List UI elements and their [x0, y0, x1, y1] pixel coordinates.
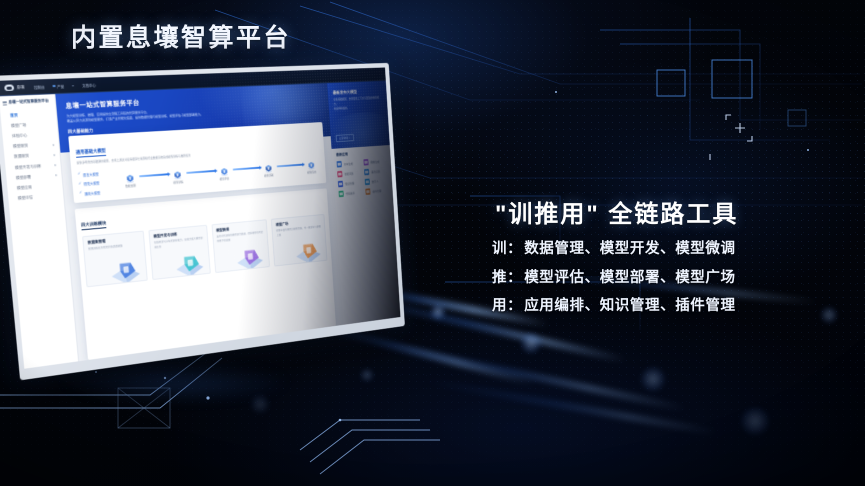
chevron-down-icon[interactable]	[72, 85, 74, 86]
apps-grid: 文本生成图像生成智能问答语音识别知识管理数字人代码助手插件管理	[337, 158, 389, 198]
model-type-label: 通用大模型	[84, 190, 100, 196]
app-icon	[338, 181, 343, 188]
training-module-desc: 在线开发与分布式训练能力，高效完成大模型训练任务	[154, 237, 204, 250]
training-modules-title: 四大训练模块	[81, 220, 107, 230]
sidebar-item-label: 模型评估	[18, 195, 33, 201]
training-module-desc: 提供丰富的预置大模型资源，可一键发布与部署上线	[276, 225, 321, 238]
feature-copy-key: 推：	[492, 271, 522, 286]
promo-cta-button[interactable]: 立即体验 >	[336, 134, 354, 143]
monitor-screen: 息壤 控制台 产品 文档中心	[0, 67, 400, 368]
topnav-item-docs[interactable]: 文档中心	[82, 82, 96, 88]
base-model-card-title: 通用基础大模型	[76, 148, 107, 158]
feature-copy-key: 用：	[492, 299, 522, 314]
app-label: 语音识别	[371, 169, 380, 173]
feature-copy-value: 应用编排、知识管理、插件管理	[524, 299, 735, 314]
apps-panel-title: 最新应用	[336, 150, 386, 158]
app-icon	[363, 159, 368, 166]
training-module-icon	[172, 248, 206, 279]
training-modules-grid: 数据集管理管理训练任务所需的各类数据集模型开发与训练在线开发与分布式训练能力，高…	[82, 214, 327, 287]
promo-card[interactable]: 最新发布大模型 全新基础模型，支持更长上下文与更强的推理能力， 欢迎体验使用。 …	[327, 81, 390, 149]
feature-copy-title: "训推用" 全链路工具	[492, 194, 844, 229]
flow-connector-2	[186, 170, 215, 174]
main-content: 息壤一站式智算服务平台 为大模型训练、推理、应用提供全流程工具链的智算服务平台，…	[55, 83, 343, 361]
feature-copy-line-1: 推：模型评估、模型部署、模型广场	[492, 271, 844, 286]
pipeline-step-label: 模型评估	[219, 177, 229, 181]
training-module-icon	[108, 255, 143, 287]
model-type-item-1[interactable]: ✓视觉大模型	[78, 179, 120, 187]
app-icon	[339, 191, 344, 198]
slide-canvas: 内置息壤智算平台 息壤 控制台 产品	[0, 0, 865, 486]
sidebar-title: 息壤一站式智算服务平台	[8, 98, 49, 105]
feature-copy-lines: 训：数据管理、模型开发、模型微调推：模型评估、模型部署、模型广场用：应用编排、知…	[492, 242, 844, 314]
feature-copy-block: "训推用" 全链路工具 训：数据管理、模型开发、模型微调推：模型评估、模型部署、…	[492, 194, 844, 328]
pipeline-step-icon	[124, 171, 136, 183]
page-title: 内置息壤智算平台	[71, 18, 291, 54]
training-modules-card: 四大训练模块 数据集管理管理训练任务所需的各类数据集模型开发与训练在线开发与分布…	[75, 188, 336, 360]
sidebar-item-label: 模型服务	[13, 144, 29, 150]
feature-copy-value: 模型评估、模型部署、模型广场	[524, 271, 735, 286]
app-label: 插件管理	[372, 189, 381, 193]
pipeline-step-label: 模型训练	[173, 180, 183, 185]
app-item-1[interactable]: 图像生成	[363, 158, 387, 166]
check-icon: ✓	[78, 182, 81, 186]
feature-copy-key: 训：	[492, 242, 522, 257]
brand-name: 息壤	[16, 85, 24, 90]
pipeline-step-icon	[306, 158, 316, 169]
apps-panel: 最新应用 文本生成图像生成智能问答语音识别知识管理数字人代码助手插件管理	[332, 145, 401, 325]
app-item-3[interactable]: 语音识别	[364, 167, 388, 175]
app-item-6[interactable]: 代码助手	[339, 189, 363, 197]
pipeline-step-1[interactable]: 模型训练	[169, 167, 186, 184]
topnav-item-products[interactable]: 产品	[53, 83, 65, 88]
app-item-4[interactable]: 知识管理	[338, 179, 362, 187]
grid-icon	[53, 85, 56, 88]
model-type-checklist: ✓语言大模型✓视觉大模型✓通用大模型	[77, 168, 121, 197]
app-label: 智能问答	[344, 171, 353, 175]
app-label: 知识管理	[345, 181, 354, 185]
app-label: 数字人	[372, 179, 379, 183]
app-icon	[364, 169, 369, 176]
training-module-card-0[interactable]: 数据集管理管理训练任务所需的各类数据集	[82, 230, 147, 287]
sidebar-item-label: 模型部署	[16, 175, 31, 181]
pipeline-step-label: 数据处理	[125, 184, 136, 189]
model-type-item-0[interactable]: ✓语言大模型	[78, 169, 120, 177]
sidebar-item-label: 体验中心	[12, 133, 28, 139]
flow-connector-3	[232, 167, 260, 170]
topnav-item-console[interactable]: 控制台	[34, 84, 45, 90]
monitor-mockup: 息壤 控制台 产品 文档中心	[6, 80, 436, 380]
training-module-card-3[interactable]: 模型广场提供丰富的预置大模型资源，可一键发布与部署上线	[271, 214, 327, 267]
app-icon	[365, 179, 370, 186]
app-label: 代码助手	[346, 191, 355, 195]
promo-title: 最新发布大模型	[333, 88, 382, 96]
sidebar-item-label: 数据服务	[14, 154, 30, 160]
training-module-card-2[interactable]: 模型微调支持对已训练的模型进行微调，提升模型在特定场景下的效果	[211, 219, 270, 273]
chevron-right-icon	[53, 144, 55, 146]
training-module-icon	[234, 242, 266, 272]
pipeline-step-icon	[172, 168, 183, 179]
cloud-icon	[4, 84, 14, 91]
topnav-item-products-label: 产品	[57, 83, 64, 88]
app-icon	[337, 171, 342, 178]
model-type-label: 视觉大模型	[83, 180, 99, 186]
training-module-card-1[interactable]: 模型开发与训练在线开发与分布式训练能力，高效完成大模型训练任务	[148, 224, 210, 279]
app-item-2[interactable]: 智能问答	[337, 169, 361, 177]
app-item-5[interactable]: 数字人	[365, 177, 388, 185]
pipeline-step-4[interactable]: 模型应用	[304, 158, 319, 175]
app-item-0[interactable]: 文本生成	[337, 160, 361, 168]
app-label: 文本生成	[344, 161, 353, 165]
pipeline-step-label: 模型应用	[307, 170, 316, 174]
pipeline-step-icon	[263, 161, 273, 172]
brand-logo[interactable]: 息壤	[4, 84, 25, 91]
training-module-icon	[293, 236, 323, 266]
sidebar-item-label: 模型应用	[17, 185, 32, 191]
check-icon: ✓	[79, 192, 82, 196]
model-type-label: 语言大模型	[83, 171, 99, 177]
topbar-nav: 控制台 产品 文档中心	[34, 82, 96, 89]
menu-icon[interactable]	[2, 101, 6, 105]
promo-desc-2: 欢迎体验使用。	[334, 105, 383, 112]
model-type-item-2[interactable]: ✓通用大模型	[79, 188, 121, 196]
pipeline-step-icon	[218, 164, 229, 175]
monitor-bezel: 息壤 控制台 产品 文档中心	[0, 63, 405, 380]
chevron-right-icon	[53, 154, 55, 156]
feature-copy-line-2: 用：应用编排、知识管理、插件管理	[492, 299, 844, 314]
app-icon	[365, 188, 370, 195]
pipeline-step-2[interactable]: 模型评估	[216, 164, 233, 181]
app-icon	[337, 161, 342, 168]
feature-copy-line-0: 训：数据管理、模型开发、模型微调	[492, 242, 844, 257]
chevron-right-icon	[54, 164, 56, 166]
sidebar-item-label: 模型开发与训练	[15, 164, 42, 171]
check-icon: ✓	[78, 173, 81, 177]
feature-copy-value: 数据管理、模型开发、模型微调	[524, 242, 735, 257]
training-module-desc: 支持对已训练的模型进行微调，提升模型在特定场景下的效果	[216, 231, 263, 244]
app-item-7[interactable]: 插件管理	[365, 187, 388, 195]
flow-connector-4	[276, 164, 303, 167]
chevron-right-icon	[55, 174, 57, 176]
pipeline-step-label: 模型部署	[264, 173, 274, 177]
app-label: 图像生成	[370, 160, 379, 164]
sidebar-menu: 首页模型广场体验中心模型服务数据服务模型开发与训练模型部署模型应用模型评估	[0, 106, 64, 205]
pipeline-flow: 数据处理模型训练模型评估模型部署模型应用	[119, 158, 320, 189]
flow-connector-1	[139, 173, 169, 177]
pipeline-step-3[interactable]: 模型部署	[260, 161, 276, 178]
pipeline-step-0[interactable]: 数据处理	[121, 171, 139, 189]
sidebar-item-label: 首页	[10, 113, 18, 118]
sidebar-item-label: 模型广场	[11, 123, 27, 129]
